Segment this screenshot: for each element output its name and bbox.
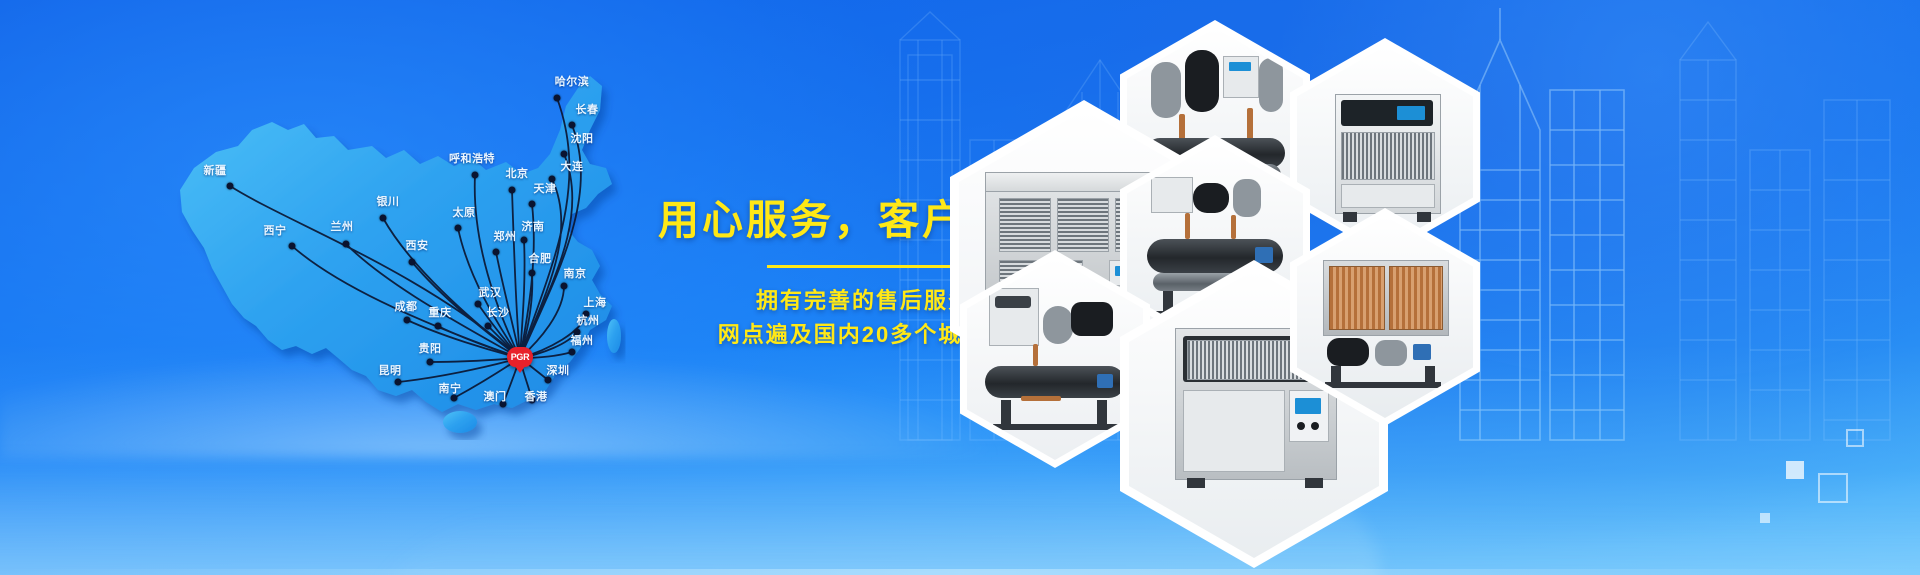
hub-label: PGR	[507, 347, 533, 367]
city-label: 南京	[564, 265, 587, 281]
city-label: 银川	[377, 193, 400, 209]
china-distribution-map: 哈尔滨长春沈阳大连呼和浩特北京天津新疆银川太原济南兰州西宁郑州西安合肥南京武汉上…	[120, 18, 680, 438]
city-label: 昆明	[379, 362, 402, 378]
city-dot[interactable]	[569, 349, 576, 356]
city-label: 哈尔滨	[555, 73, 590, 89]
city-dot[interactable]	[404, 317, 411, 324]
city-label: 澳门	[484, 388, 507, 404]
city-dot[interactable]	[380, 215, 387, 222]
promo-banner: 哈尔滨长春沈阳大连呼和浩特北京天津新疆银川太原济南兰州西宁郑州西安合肥南京武汉上…	[0, 0, 1920, 575]
city-label: 重庆	[429, 304, 452, 320]
city-label: 合肥	[529, 250, 552, 266]
city-dot[interactable]	[343, 241, 350, 248]
city-label: 杭州	[577, 312, 600, 328]
hub-location-pin-icon[interactable]: PGR	[505, 347, 535, 369]
city-label: 北京	[506, 165, 529, 181]
ground-glow	[0, 569, 1920, 575]
city-dot[interactable]	[493, 249, 500, 256]
city-label: 长沙	[487, 304, 510, 320]
city-label: 成都	[395, 298, 418, 314]
city-dot[interactable]	[455, 225, 462, 232]
city-label: 大连	[561, 158, 584, 174]
city-dot[interactable]	[569, 122, 576, 129]
city-dot[interactable]	[409, 259, 416, 266]
city-label: 呼和浩特	[449, 150, 495, 166]
city-label: 济南	[522, 218, 545, 234]
city-label: 新疆	[204, 162, 227, 178]
city-label: 太原	[453, 204, 476, 220]
city-label: 郑州	[494, 228, 517, 244]
city-label: 香港	[525, 388, 548, 404]
city-dot[interactable]	[509, 187, 516, 194]
city-label: 贵阳	[419, 340, 442, 356]
city-dot[interactable]	[289, 243, 296, 250]
city-dot[interactable]	[561, 283, 568, 290]
city-label: 福州	[571, 332, 594, 348]
city-label: 长春	[576, 101, 599, 117]
product-photo-collage	[950, 0, 1920, 575]
city-dot[interactable]	[529, 270, 536, 277]
city-dot[interactable]	[435, 323, 442, 330]
city-label: 兰州	[331, 218, 354, 234]
city-dot[interactable]	[427, 359, 434, 366]
city-label: 上海	[584, 294, 607, 310]
city-label: 西安	[406, 237, 429, 253]
city-dot[interactable]	[227, 183, 234, 190]
city-dot[interactable]	[395, 379, 402, 386]
city-label: 天津	[534, 180, 557, 196]
city-label: 南宁	[439, 380, 462, 396]
city-label: 深圳	[547, 362, 570, 378]
city-label: 沈阳	[571, 130, 594, 146]
city-dot[interactable]	[485, 323, 492, 330]
city-dot[interactable]	[472, 172, 479, 179]
city-label: 武汉	[479, 284, 502, 300]
city-label: 西宁	[264, 222, 287, 238]
city-dot[interactable]	[529, 201, 536, 208]
city-dot[interactable]	[561, 151, 568, 158]
city-dot[interactable]	[554, 95, 561, 102]
city-dot[interactable]	[521, 237, 528, 244]
city-dot[interactable]	[475, 301, 482, 308]
